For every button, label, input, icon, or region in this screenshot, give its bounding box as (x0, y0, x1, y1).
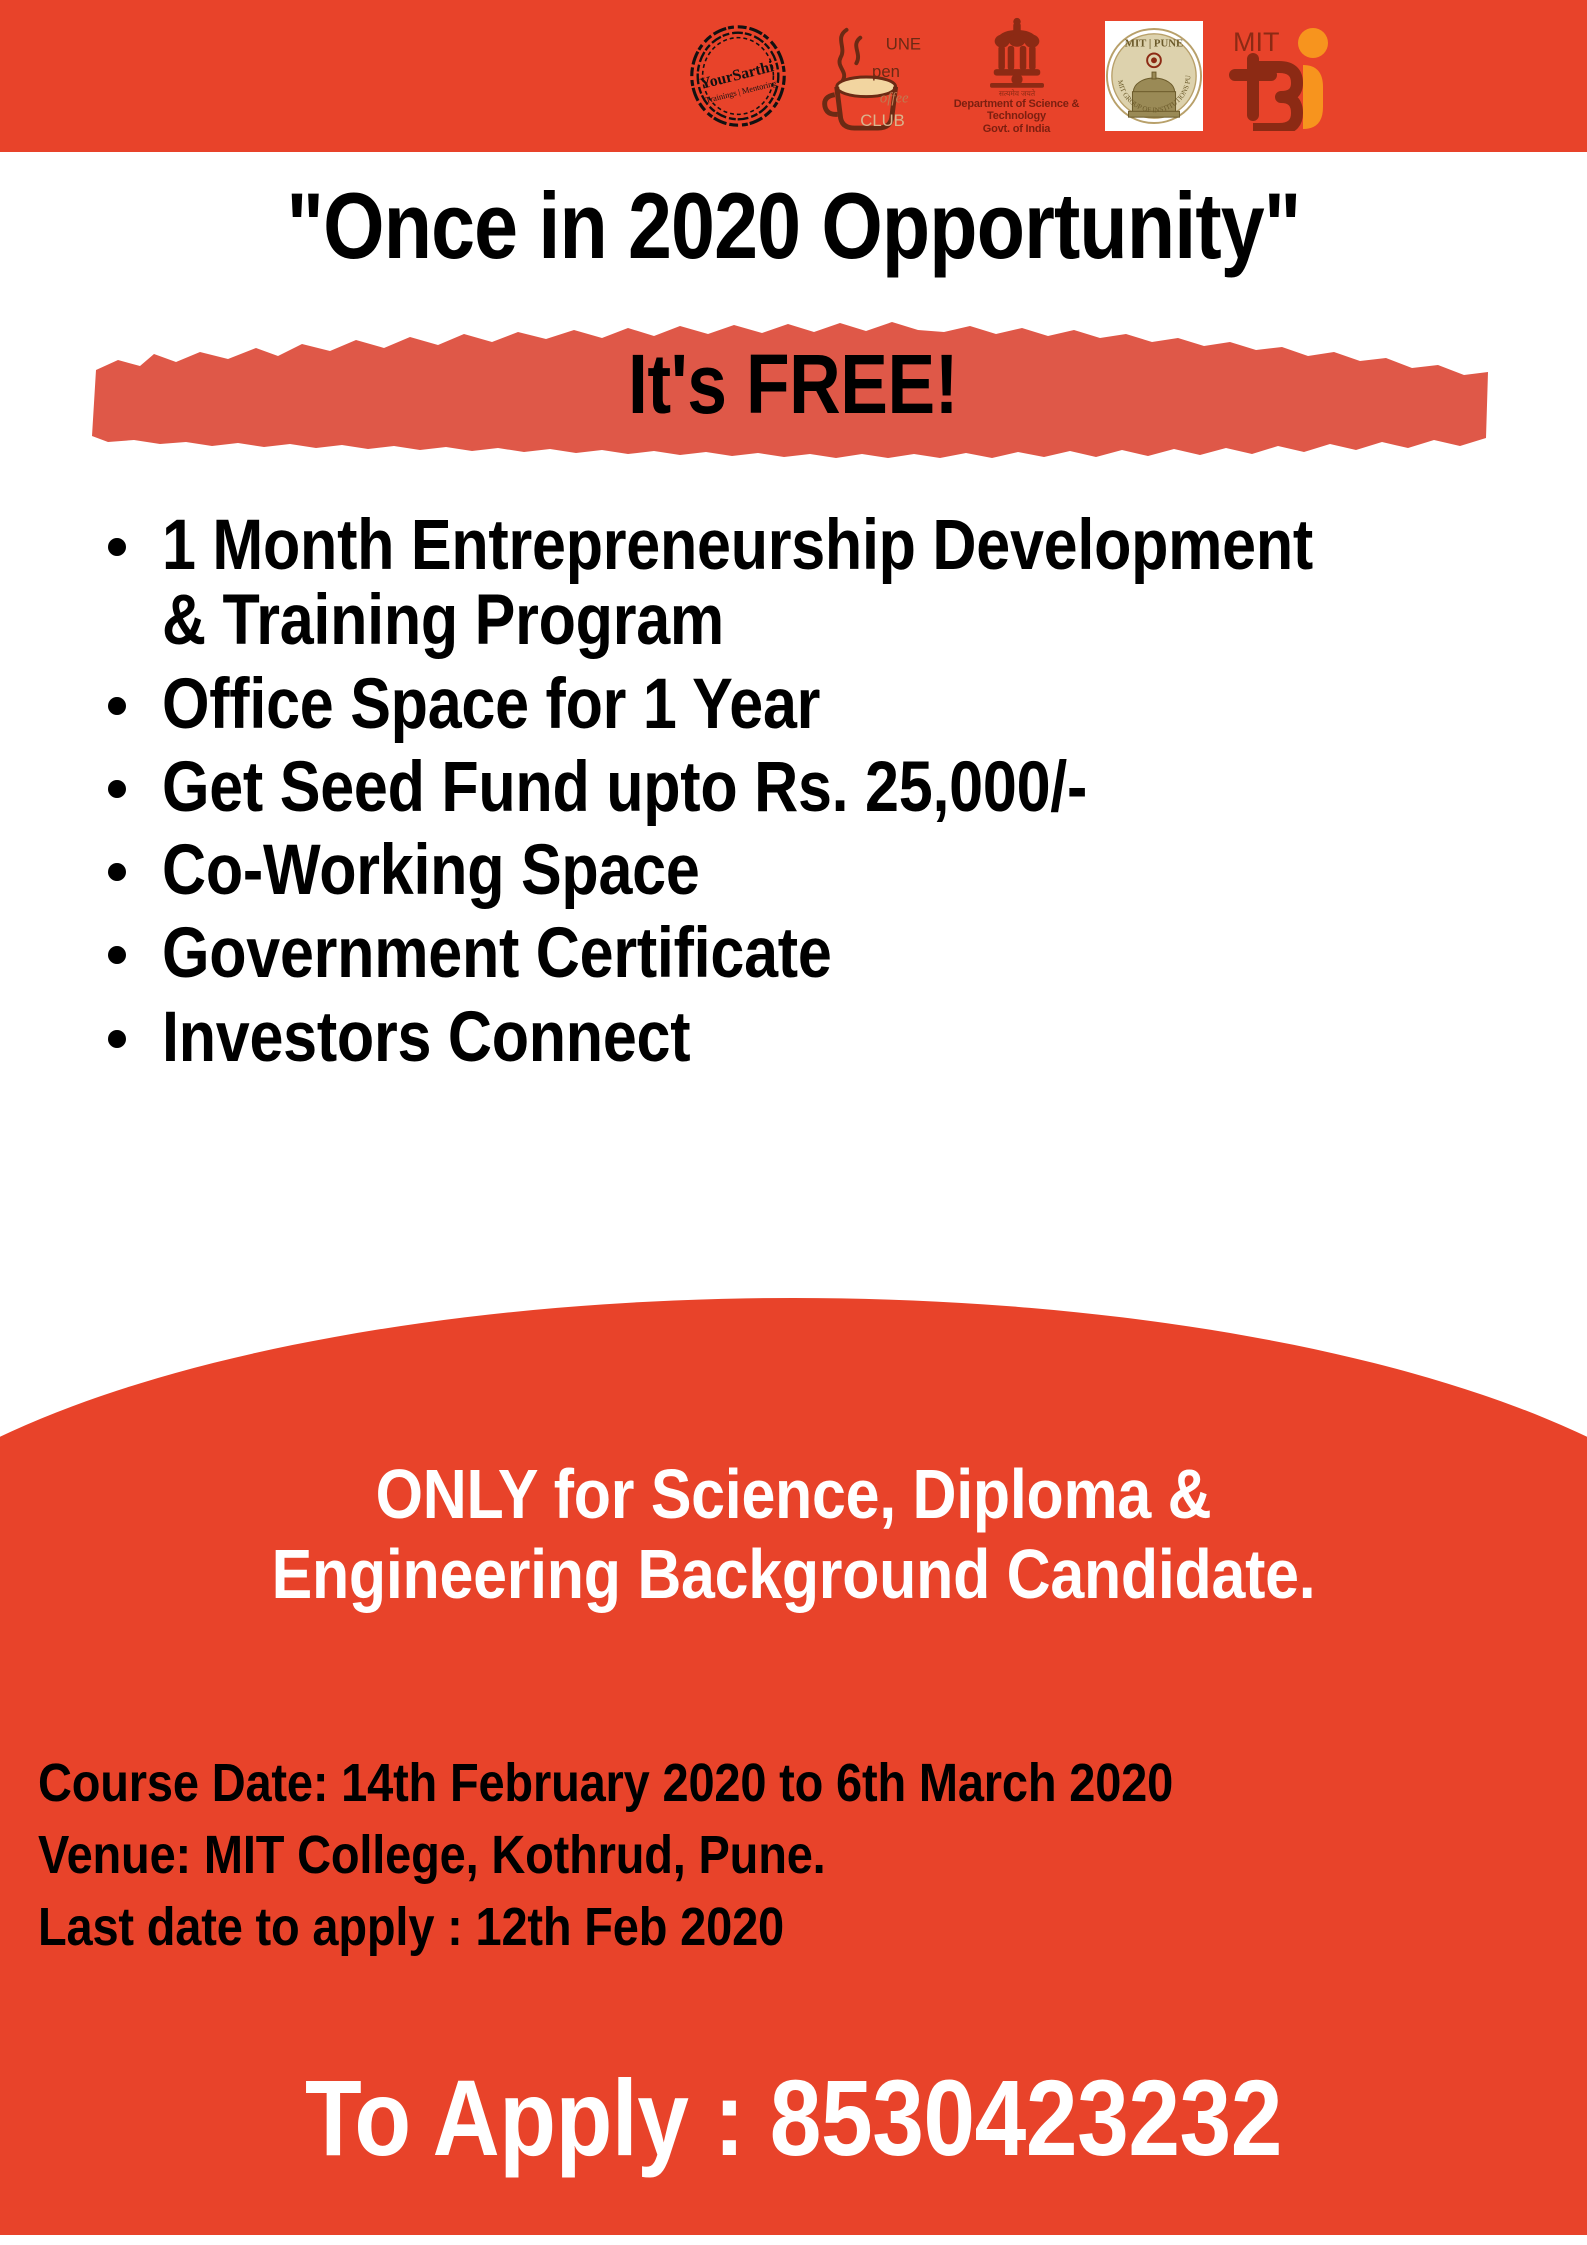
bullet-dot-icon (108, 780, 126, 798)
mit-tbi-wordmark: MIT (1233, 27, 1280, 57)
eligibility-line-2: Engineering Background Candidate. (103, 1535, 1484, 1615)
benefits-list: 1 Month Entrepreneurship Development & T… (108, 508, 1528, 1083)
bullet-dot-icon (108, 1030, 126, 1048)
free-banner-text: It's FREE! (194, 318, 1393, 458)
pune-open-coffee-club-logo: UNE pen offee CLUB (821, 16, 929, 136)
free-banner: It's FREE! (88, 318, 1498, 458)
pocc-line-pune: UNE (885, 34, 920, 53)
bottom-white-strip (0, 2235, 1587, 2245)
benefit-text: Government Certificate (162, 916, 1337, 991)
poster-root: YourSarthi Trainings | Mentoring UNE pen… (0, 0, 1587, 2245)
list-item: Get Seed Fund upto Rs. 25,000/- (108, 750, 1528, 825)
sponsor-logo-bar: YourSarthi Trainings | Mentoring UNE pen… (0, 0, 1587, 152)
benefit-text: Investors Connect (162, 1000, 1337, 1075)
last-date-line: Last date to apply : 12th Feb 2020 (38, 1892, 1378, 1964)
eligibility-heading: ONLY for Science, Diploma & Engineering … (103, 1455, 1484, 1615)
eligibility-line-1: ONLY for Science, Diploma & (103, 1455, 1484, 1535)
pocc-line-open: pen (872, 62, 900, 81)
dst-caption: Department of Science & Technology Govt.… (953, 98, 1081, 136)
benefit-text: Office Space for 1 Year (162, 667, 1337, 742)
course-details: Course Date: 14th February 2020 to 6th M… (38, 1748, 1378, 1963)
bullet-dot-icon (108, 697, 126, 715)
mit-tbi-logo: MIT (1227, 21, 1339, 131)
list-item: Co-Working Space (108, 833, 1528, 908)
apply-cta[interactable]: To Apply : 8530423232 (111, 2055, 1476, 2180)
dst-motto-text: सत्यमेव जयते (998, 89, 1035, 97)
benefit-text: Co-Working Space (162, 833, 1337, 908)
yoursarthi-logo: YourSarthi Trainings | Mentoring (679, 17, 797, 135)
benefit-text: Get Seed Fund upto Rs. 25,000/- (162, 750, 1337, 825)
poster-headline: "Once in 2020 Opportunity" (127, 172, 1460, 280)
list-item: Office Space for 1 Year (108, 667, 1528, 742)
bullet-dot-icon (108, 538, 126, 556)
bullet-dot-icon (108, 946, 126, 964)
pocc-line-coffee: offee (879, 91, 908, 107)
pocc-line-club: CLUB (860, 111, 905, 130)
mit-pune-top-text: MIT | PUNE (1124, 38, 1182, 50)
list-item: Investors Connect (108, 1000, 1528, 1075)
list-item: 1 Month Entrepreneurship Development & T… (108, 508, 1528, 659)
dst-govt-india-logo: सत्यमेव जयते Department of Science & Tec… (953, 14, 1081, 138)
course-date-line: Course Date: 14th February 2020 to 6th M… (38, 1748, 1378, 1820)
bullet-dot-icon (108, 863, 126, 881)
list-item: Government Certificate (108, 916, 1528, 991)
mit-pune-logo: MIT | PUNE MIT GROUP OF INSTITUTIONS PUN… (1105, 21, 1203, 131)
benefit-text: 1 Month Entrepreneurship Development & T… (162, 508, 1337, 659)
venue-line: Venue: MIT College, Kothrud, Pune. (38, 1820, 1378, 1892)
